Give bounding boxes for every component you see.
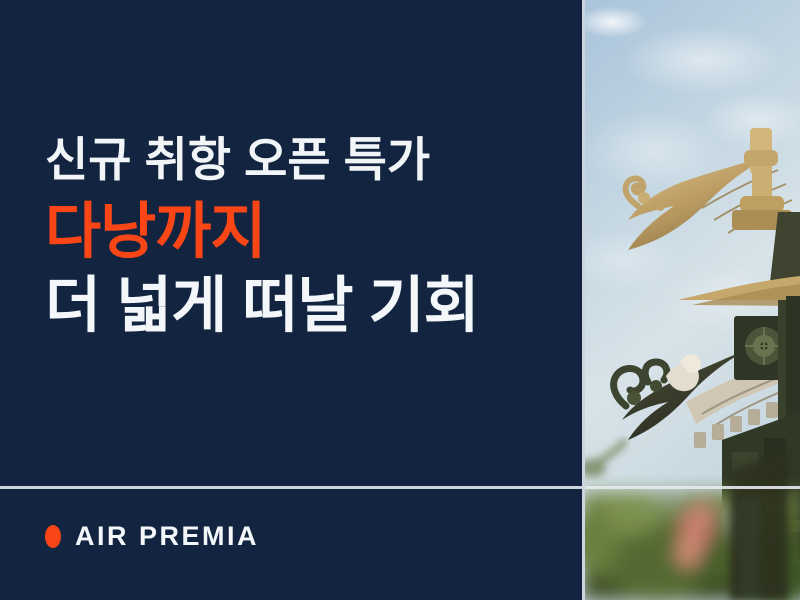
headline-line-2-highlight: 다낭까지 [45,192,479,270]
temple-roof-photo [582,0,800,600]
air-premia-dot-icon [45,525,61,548]
headline-block: 신규 취항 오픈 특가 다낭까지 더 넓게 떠날 기회 [45,130,479,344]
air-premia-wordmark: AIR PREMIA [75,523,259,550]
photo-divider-line [582,486,800,489]
horizontal-divider [0,486,582,489]
promo-banner: 신규 취항 오픈 특가 다낭까지 더 넓게 떠날 기회 AIR PREMIA [0,0,800,600]
headline-line-1: 신규 취항 오픈 특가 [45,130,479,190]
vertical-divider [582,0,585,600]
air-premia-logo: AIR PREMIA [45,523,259,550]
temple-roof-illustration [582,0,800,600]
headline-line-3: 더 넓게 떠날 기회 [45,266,479,344]
